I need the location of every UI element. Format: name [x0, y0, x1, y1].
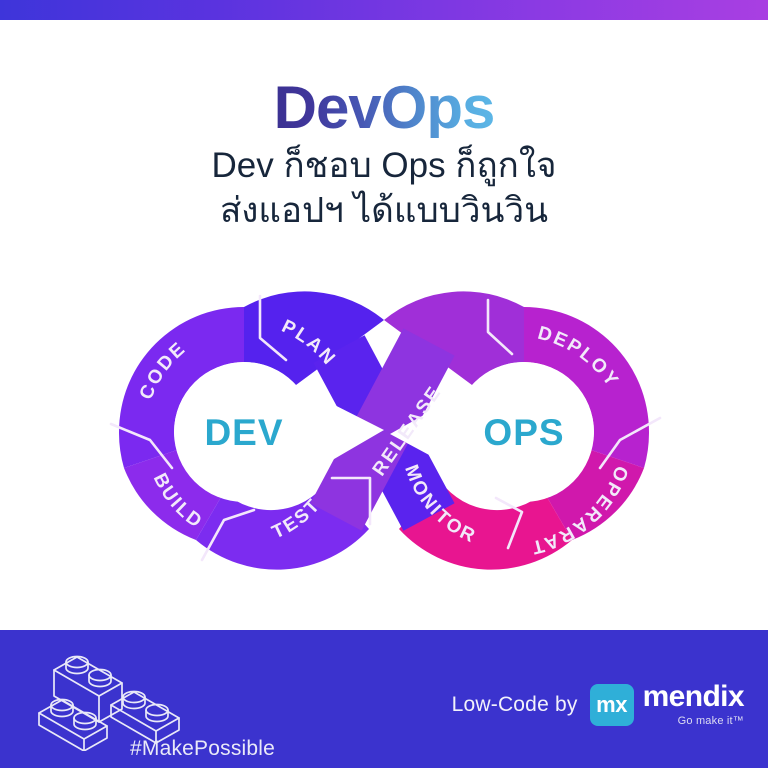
- subtitle-line-1: Dev ก็ชอบ Ops ก็ถูกใจ: [0, 144, 768, 189]
- low-code-by-label: Low-Code by: [452, 693, 578, 717]
- infinity-svg: DEV OPS CODE PLAN BUILD TEST RELEASE DEP…: [84, 272, 684, 582]
- subtitle-line-2: ส่งแอปฯ ได้แบบวินวิน: [0, 189, 768, 234]
- top-gradient-bar: [0, 0, 768, 20]
- mendix-brand-name: mendix: [643, 683, 744, 712]
- headline-block: DevOps Dev ก็ชอบ Ops ก็ถูกใจ ส่งแอปฯ ได้…: [0, 78, 768, 234]
- dev-center-label: DEV: [204, 412, 283, 453]
- page-title: DevOps: [274, 78, 495, 138]
- make-possible-block: #MakePossible: [26, 644, 306, 764]
- hashtag-make-possible: #MakePossible: [130, 737, 275, 761]
- footer-band: #MakePossible Low-Code by mx mendix Go m…: [0, 630, 768, 768]
- mendix-mx-badge: mx: [590, 684, 634, 726]
- mendix-tagline: Go make it™: [678, 715, 744, 727]
- lego-brick-svg: [32, 646, 202, 751]
- devops-infinity-diagram: DEV OPS CODE PLAN BUILD TEST RELEASE DEP…: [84, 272, 684, 582]
- mendix-branding: Low-Code by mx mendix Go make it™: [452, 682, 744, 728]
- ops-center-label: OPS: [483, 412, 564, 453]
- subtitle: Dev ก็ชอบ Ops ก็ถูกใจ ส่งแอปฯ ได้แบบวินว…: [0, 144, 768, 234]
- mendix-wordmark: mendix Go make it™: [643, 683, 744, 727]
- devops-poster: DevOps Dev ก็ชอบ Ops ก็ถูกใจ ส่งแอปฯ ได้…: [0, 0, 768, 768]
